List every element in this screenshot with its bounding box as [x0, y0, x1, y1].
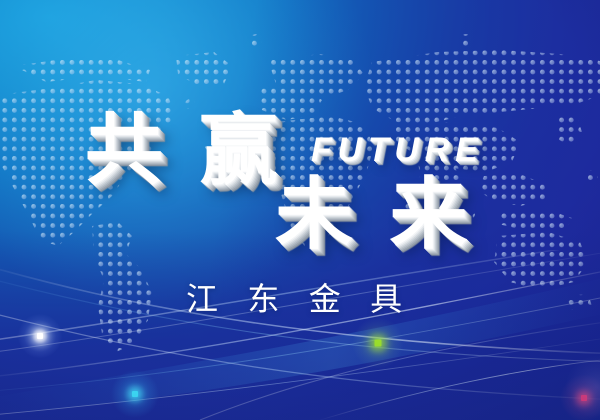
promo-banner: 共 赢 FUTURE 未 来 江 东 金 具 — [0, 0, 600, 420]
headline-line-1: 共 赢 — [85, 112, 282, 190]
headline-line-2: 未 来 — [275, 176, 472, 254]
headline-group: 共 赢 FUTURE 未 来 江 东 金 具 — [0, 0, 600, 420]
brand-name: 江 东 金 具 — [186, 274, 412, 320]
headline-english: FUTURE — [311, 131, 484, 170]
